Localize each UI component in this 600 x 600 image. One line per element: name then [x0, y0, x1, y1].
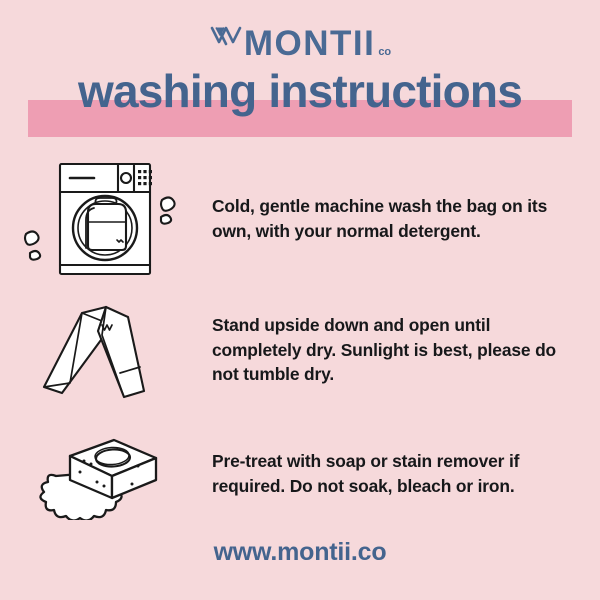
instruction-row: Stand upside down and open until complet…	[0, 295, 600, 405]
instruction-text-cell: Pre-treat with soap or stain remover if …	[212, 449, 600, 498]
website-url[interactable]: www.montii.co	[0, 538, 600, 567]
instruction-row: Pre-treat with soap or stain remover if …	[0, 428, 600, 520]
double-chevron-m-icon	[209, 22, 243, 61]
brand-logo: MONTII co	[0, 18, 600, 64]
logo-subscript: co	[378, 47, 391, 58]
instruction-row: Cold, gentle machine wash the bag on its…	[0, 158, 600, 280]
instruction-text-cell: Stand upside down and open until complet…	[212, 313, 600, 387]
instruction-text: Pre-treat with soap or stain remover if …	[212, 449, 578, 498]
instruction-text: Cold, gentle machine wash the bag on its…	[212, 194, 578, 243]
logo-wordmark: MONTII	[244, 26, 375, 61]
logo-lockup: MONTII co	[209, 22, 391, 61]
washing-machine-icon	[0, 158, 212, 280]
instruction-text-cell: Cold, gentle machine wash the bag on its…	[212, 194, 600, 243]
instruction-text: Stand upside down and open until complet…	[212, 313, 578, 387]
upside-down-bag-drying-icon	[0, 295, 212, 405]
page-title: washing instructions	[0, 68, 600, 114]
soap-bar-icon	[0, 428, 212, 520]
